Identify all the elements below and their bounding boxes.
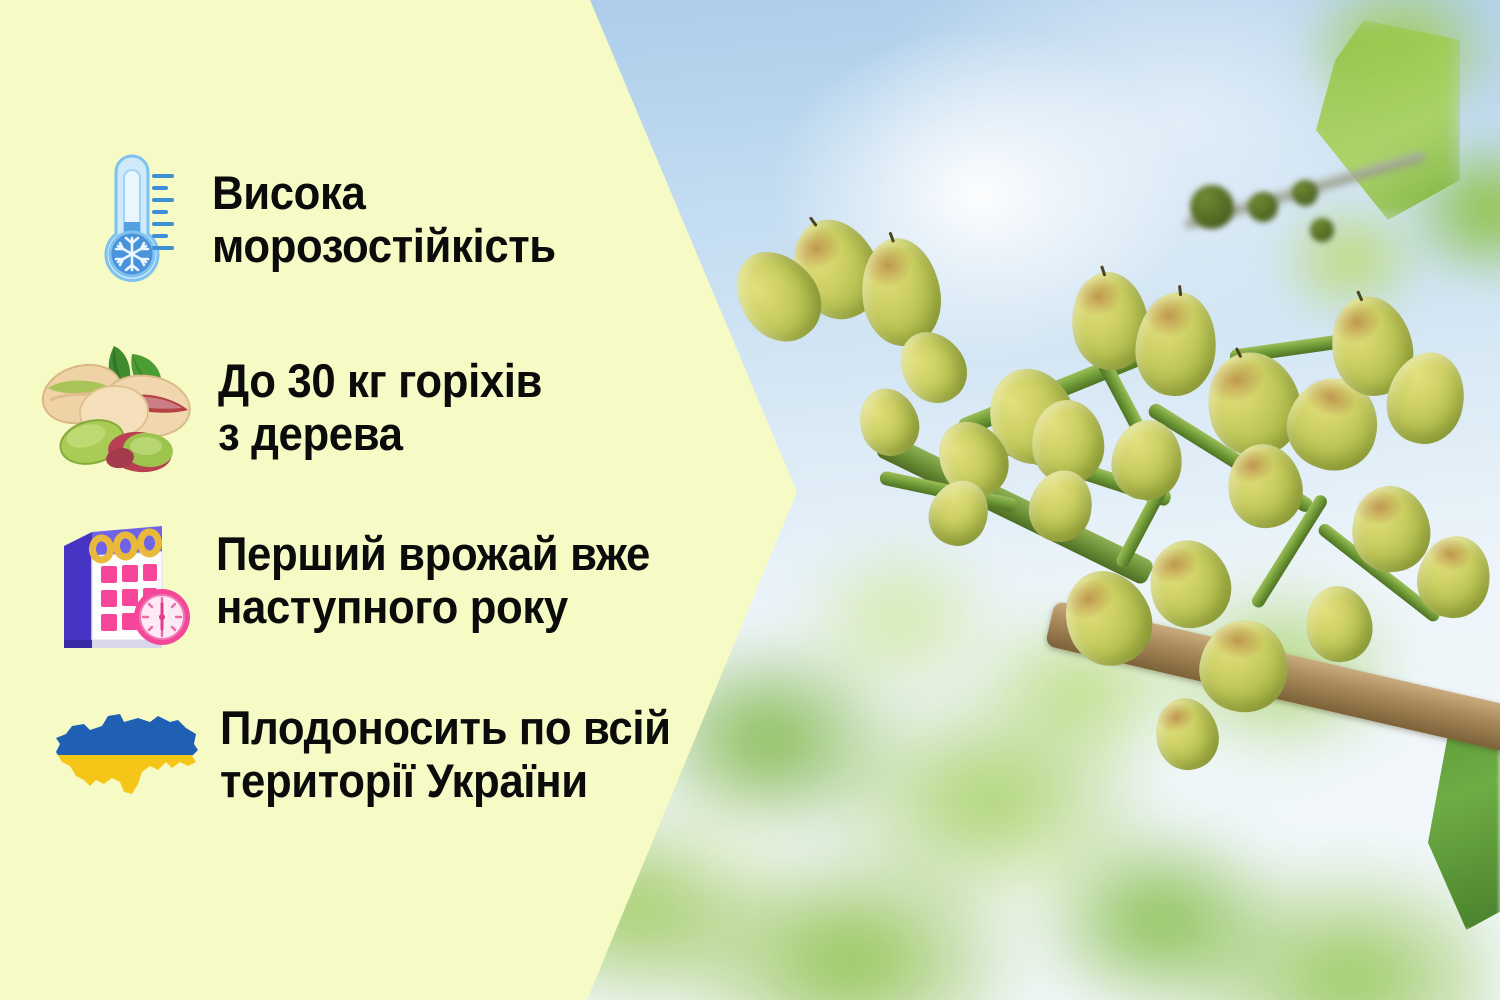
bud (1190, 185, 1234, 229)
pistachio-nuts-icon (36, 338, 196, 478)
feature-list: Висока морозостійкість (0, 0, 820, 1000)
feature-label-yield: До 30 кг горіхів з дерева (218, 355, 542, 460)
feature-item-yield: До 30 кг горіхів з дерева (36, 338, 566, 478)
thermometer-snowflake-icon (88, 150, 184, 290)
feature-item-harvest: Перший врожай вже наступного року (46, 508, 683, 653)
ukraine-map-icon (46, 700, 206, 810)
feature-item-frost: Висока морозостійкість (88, 150, 582, 290)
calendar-clock-icon (46, 508, 196, 653)
promo-banner: Висока морозостійкість (0, 0, 1500, 1000)
bud (1292, 180, 1318, 206)
bud (1310, 218, 1334, 242)
feature-label-frost: Висока морозостійкість (212, 167, 556, 272)
feature-label-harvest: Перший врожай вже наступного року (216, 528, 650, 633)
feature-label-region: Плодоносить по всій території України (220, 702, 671, 807)
feature-item-region: Плодоносить по всій території України (46, 700, 705, 810)
bud (1248, 192, 1278, 222)
